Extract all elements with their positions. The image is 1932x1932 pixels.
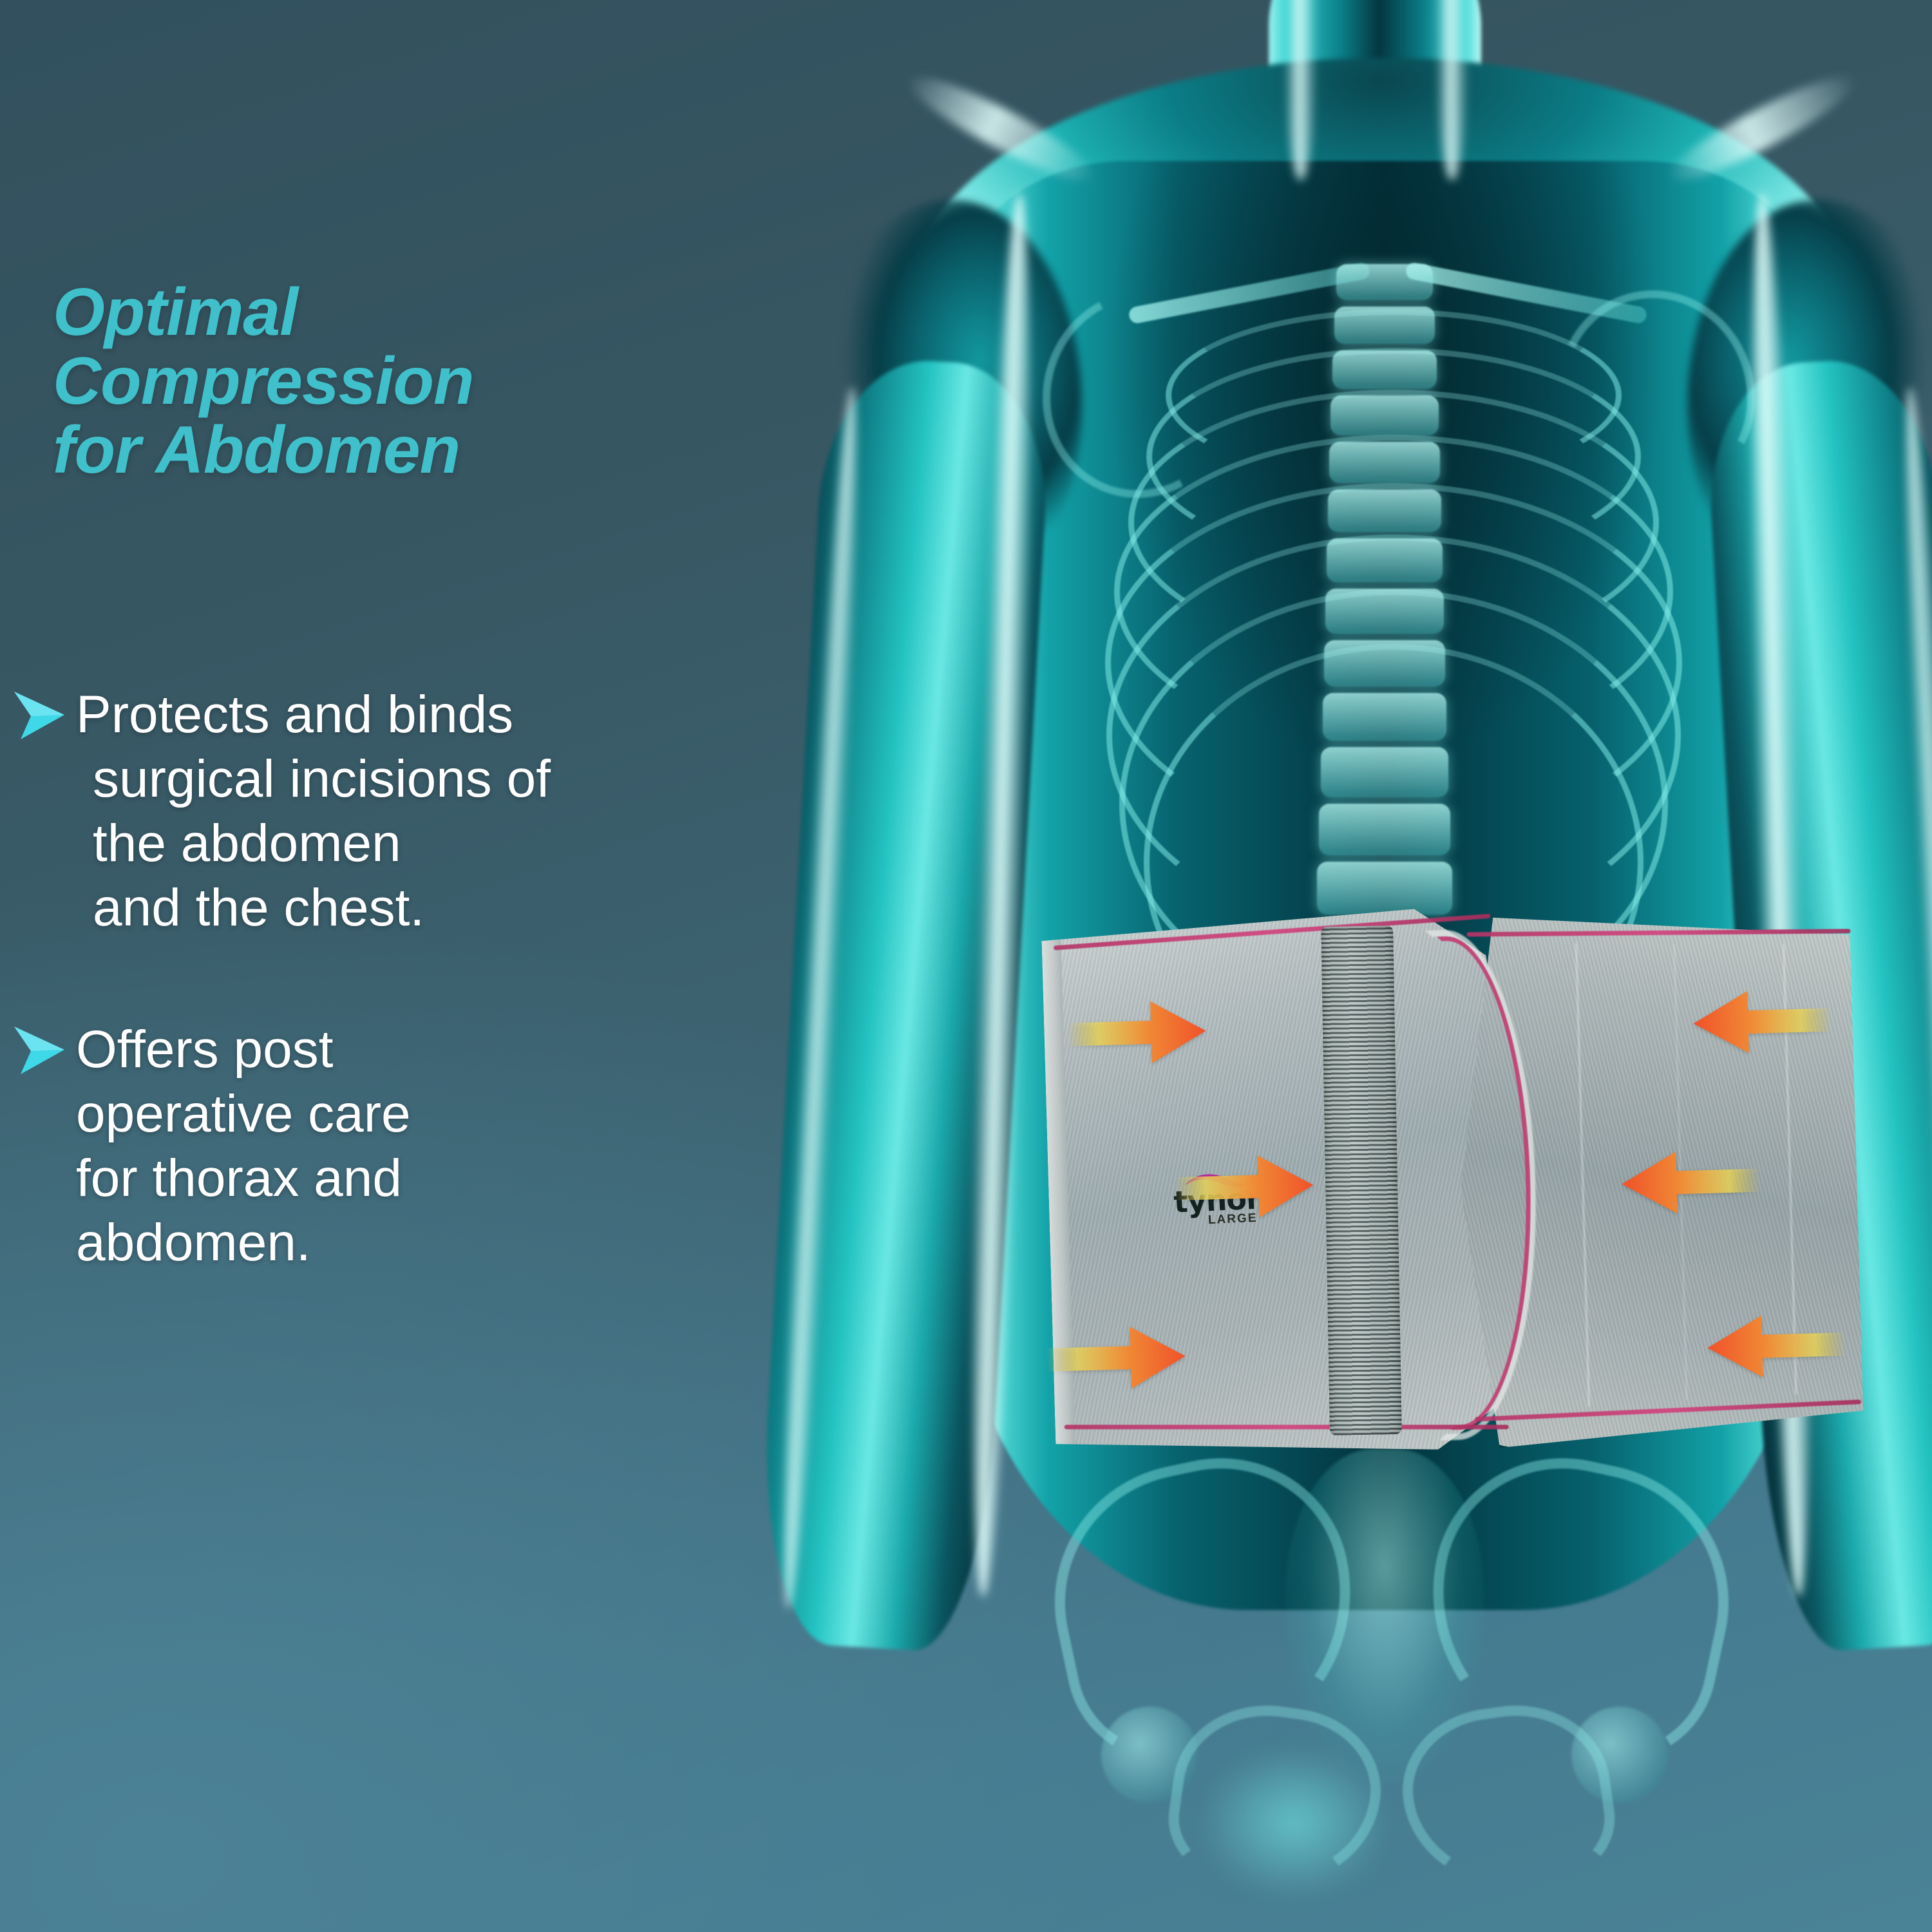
list-item: Offers post operative care for thorax an… [0,1018,721,1275]
vertebra-t2 [1331,395,1439,435]
belt-piping-bottom-left [1065,1425,1509,1429]
compression-arrow-right-3 [1046,1321,1186,1395]
bullet-2-line-4: abdomen. [76,1211,721,1275]
bullet-1-line-2: surgical incisions of [76,747,721,811]
bullet-2-line-1: Offers post [76,1018,721,1082]
vertebra-l1 [1321,747,1448,797]
compression-arrow-left-3 [1707,1309,1847,1383]
vertebra-l2 [1319,804,1450,855]
vertebra-t7 [1324,640,1445,687]
compression-arrow-left-2 [1621,1146,1761,1219]
headline-line-2: Compression [53,347,684,416]
abdominal-binder-belt: tynor LARGE [1041,897,1864,1461]
bullet-1-line-3: the abdomen [76,811,721,876]
headline-line-3: for Abdomen [53,416,684,485]
vertebra-t5 [1327,538,1443,582]
velcro-closure-strap[interactable] [1321,925,1402,1435]
vertebra-t3 [1329,442,1440,483]
vertebra-t1 [1332,350,1437,389]
list-item-text: Protects and binds surgical incisions of… [76,683,721,940]
vertebra-t6 [1325,589,1444,634]
page-title: Optimal Compression for Abdomen [53,278,684,485]
compression-arrow-right-2 [1174,1150,1314,1224]
vertebra-c1 [1336,264,1433,300]
copy-panel: Optimal Compression for Abdomen Protects… [0,0,721,1932]
product-feature-banner: tynor LARGE [0,0,1932,1932]
vertebra-t4 [1328,489,1441,532]
vertebra-t8 [1323,693,1446,741]
vertebra-l3 [1317,862,1452,914]
vertebra-c2 [1334,307,1435,344]
list-item: Protects and binds surgical incisions of… [0,683,721,940]
bullet-2-line-2: operative care [76,1082,721,1146]
headline-line-1: Optimal [53,278,684,347]
compression-arrow-left-1 [1692,985,1833,1058]
compression-arrow-right-1 [1066,996,1207,1070]
chevron-arrow-icon [12,689,67,743]
bullet-2-line-3: for thorax and [76,1146,721,1211]
list-item-text: Offers post operative care for thorax an… [76,1018,721,1275]
chevron-arrow-icon [12,1024,67,1078]
lower-body-glow [1159,1713,1430,1932]
feature-list: Protects and binds surgical incisions of… [0,683,721,1352]
bullet-1-line-4: and the chest. [76,876,721,940]
bullet-1-line-1: Protects and binds [76,683,721,747]
